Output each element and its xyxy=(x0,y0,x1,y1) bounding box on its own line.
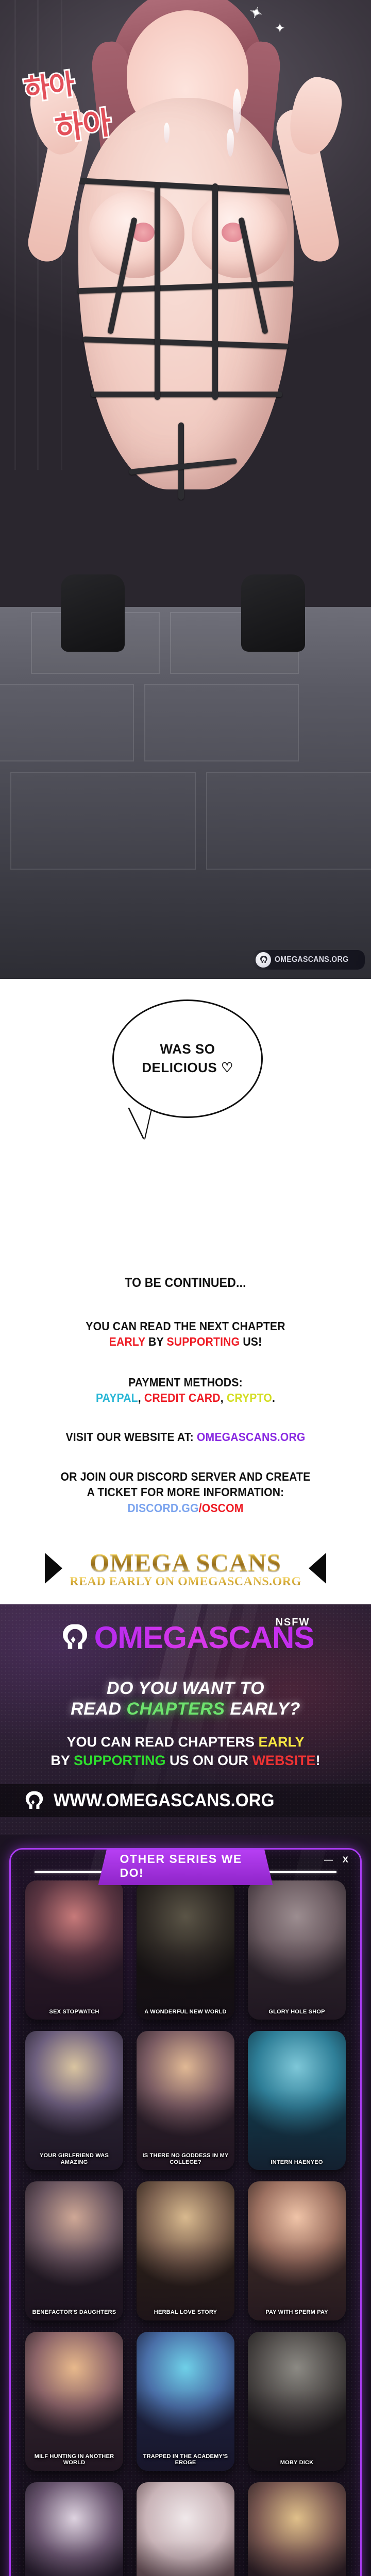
gold-logo-block: OMEGA SCANS READ EARLY ON OMEGASCANS.ORG xyxy=(0,1536,371,1604)
webtoon-page: ✦ ✦ 하아 하아 OMEGASCANS.ORG WAS SO DELICIOU… xyxy=(0,0,371,2576)
sub-early-word: EARLY xyxy=(259,1734,305,1750)
discord-line2: A TICKET FOR MORE INFORMATION: xyxy=(87,1485,284,1499)
sfx-text-2: 하아 xyxy=(52,98,113,149)
series-cover-overlay xyxy=(25,1880,123,2020)
hero-read-word: READ xyxy=(71,1699,121,1719)
hero-subtext: YOU CAN READ CHAPTERS EARLY BY SUPPORTIN… xyxy=(0,1733,371,1770)
series-title: GLORY HOLE SHOP xyxy=(248,2009,346,2015)
speech-bubble-tail xyxy=(129,1107,151,1139)
series-title: PAY WITH SPERM PAY xyxy=(248,2309,346,2315)
gold-logo-title: OMEGA SCANS xyxy=(70,1548,301,1577)
nsfw-tag-label: NSFW xyxy=(275,1617,310,1629)
series-title: MILF HUNTING IN ANOTHER WORLD xyxy=(25,2453,123,2466)
by-word: BY xyxy=(148,1335,163,1348)
discord-domain[interactable]: DISCORD.GG xyxy=(127,1501,198,1515)
series-thumbnail[interactable]: HERBAL LOVE STORY xyxy=(137,2181,234,2320)
series-cover-overlay xyxy=(248,2181,346,2320)
series-title: BENEFACTOR'S DAUGHTERS xyxy=(25,2309,123,2315)
series-thumbnail[interactable]: ISEKAI DRAGONDICK KNIGHT COMMANDER xyxy=(25,2482,123,2576)
payment-crypto: CRYPTO xyxy=(227,1391,272,1404)
discord-path[interactable]: /OSCOM xyxy=(199,1501,244,1515)
omega-logo-icon xyxy=(22,1789,44,1812)
sparkle-icon: ✦ xyxy=(247,3,265,24)
speech-bubble: WAS SO DELICIOUS ♡ xyxy=(112,999,263,1118)
series-title: INTERN HAENYEO xyxy=(248,2159,346,2165)
payment-paypal: PAYPAL xyxy=(96,1391,138,1404)
next-chapter-line1: YOU CAN READ THE NEXT CHAPTER xyxy=(86,1319,285,1333)
series-cover-overlay xyxy=(137,1880,234,2020)
series-title: MOBY DICK xyxy=(248,2460,346,2466)
series-section: OTHER SERIES WE DO! — X SEX STOPWATCHA W… xyxy=(0,1835,371,2576)
series-cover-overlay xyxy=(25,2332,123,2471)
series-cover-overlay xyxy=(137,2031,234,2170)
series-thumbnail[interactable]: A WONDERFUL NEW WORLD xyxy=(137,1880,234,2020)
payment-credit-card: CREDIT CARD xyxy=(144,1391,221,1404)
series-cover-overlay xyxy=(137,2482,234,2576)
series-thumbnail[interactable]: INTERN HAENYEO xyxy=(248,2031,346,2170)
series-card: OTHER SERIES WE DO! — X SEX STOPWATCHA W… xyxy=(9,1848,362,2576)
triangle-left-icon xyxy=(45,1553,62,1584)
character-boot-left xyxy=(61,574,125,652)
series-title: HERBAL LOVE STORY xyxy=(137,2309,234,2315)
speech-bubble-zone: WAS SO DELICIOUS ♡ xyxy=(0,979,371,1247)
sub-website-word: WEBSITE xyxy=(252,1753,316,1768)
series-thumbnail[interactable]: BENEFACTOR'S DAUGHTERS xyxy=(25,2181,123,2320)
watermark: OMEGASCANS.ORG xyxy=(252,950,365,970)
series-cover-overlay xyxy=(248,2031,346,2170)
series-cover-overlay xyxy=(137,2181,234,2320)
series-thumbnail[interactable]: YOUR GIRLFRIEND WAS AMAZING xyxy=(25,2031,123,2170)
visit-url-link[interactable]: OMEGASCANS.ORG xyxy=(197,1430,306,1444)
nsfw-promo-banner: OMEGASCANS NSFW DO YOU WANT TO READ CHAP… xyxy=(0,1604,371,1835)
series-thumbnail[interactable]: PAY WITH SPERM PAY xyxy=(248,2181,346,2320)
gold-logo-tagline: READ EARLY ON OMEGASCANS.ORG xyxy=(70,1575,301,1589)
speech-line-2: DELICIOUS ♡ xyxy=(142,1059,233,1077)
sub-supporting-word: SUPPORTING xyxy=(74,1753,166,1768)
series-thumbnail[interactable]: TRAPPED IN THE ACADEMY'S EROGE xyxy=(137,2332,234,2471)
series-cover-overlay xyxy=(25,2482,123,2576)
to-be-continued-label: TO BE CONTINUED... xyxy=(26,1276,345,1291)
visit-label: VISIT OUR WEBSITE AT: xyxy=(65,1430,193,1444)
window-controls[interactable]: — X xyxy=(324,1855,352,1865)
series-title: SEX STOPWATCH xyxy=(25,2009,123,2015)
supporting-word: SUPPORTING xyxy=(167,1335,240,1348)
series-cover-overlay xyxy=(248,1880,346,2020)
us-word: US! xyxy=(243,1335,262,1348)
sub-line1-a: YOU CAN READ CHAPTERS xyxy=(66,1734,255,1750)
series-cover-overlay xyxy=(248,2482,346,2576)
hero-headline: DO YOU WANT TO READ CHAPTERS EARLY? xyxy=(0,1678,371,1719)
series-grid: SEX STOPWATCHA WONDERFUL NEW WORLDGLORY … xyxy=(19,1877,352,2576)
sparkle-icon: ✦ xyxy=(275,22,284,35)
promo-text-block: TO BE CONTINUED... YOU CAN READ THE NEXT… xyxy=(0,1247,371,1536)
series-thumbnail[interactable]: GOLDEN FACADE xyxy=(248,2482,346,2576)
series-cover-overlay xyxy=(248,2332,346,2471)
character-torso xyxy=(78,98,294,489)
watermark-text: OMEGASCANS.ORG xyxy=(275,955,348,964)
floor-background xyxy=(0,607,371,979)
series-cover-overlay xyxy=(25,2031,123,2170)
website-url-bar[interactable]: WWW.OMEGASCANS.ORG xyxy=(0,1784,371,1817)
next-chapter-message: YOU CAN READ THE NEXT CHAPTER EARLY BY S… xyxy=(26,1318,345,1350)
hero-line-1: DO YOU WANT TO xyxy=(0,1678,371,1699)
visit-website-block: VISIT OUR WEBSITE AT: OMEGASCANS.ORG xyxy=(26,1429,345,1445)
character-boot-right xyxy=(241,574,305,652)
speech-line-1: WAS SO xyxy=(142,1040,233,1059)
early-word: EARLY xyxy=(109,1335,145,1348)
sfx-text-1: 하아 xyxy=(22,61,76,107)
series-title: IS THERE NO GODDESS IN MY COLLEGE? xyxy=(137,2153,234,2165)
series-thumbnail[interactable]: MY ILLUSTRATOR xyxy=(137,2482,234,2576)
payment-label: PAYMENT METHODS: xyxy=(128,1376,243,1389)
omega-badge-icon xyxy=(256,952,271,968)
series-cover-overlay xyxy=(25,2181,123,2320)
hero-chapters-word: CHAPTERS xyxy=(126,1699,225,1719)
website-url-text[interactable]: WWW.OMEGASCANS.ORG xyxy=(54,1790,275,1811)
discord-block: OR JOIN OUR DISCORD SERVER AND CREATE A … xyxy=(26,1469,345,1516)
series-title: YOUR GIRLFRIEND WAS AMAZING xyxy=(25,2153,123,2165)
triangle-right-icon xyxy=(309,1553,326,1584)
omega-logo-icon xyxy=(57,1621,89,1653)
sub-exclaim: ! xyxy=(316,1753,321,1768)
series-thumbnail[interactable]: SEX STOPWATCH xyxy=(25,1880,123,2020)
series-panel-title: OTHER SERIES WE DO! xyxy=(98,1848,273,1885)
payment-methods-block: PAYMENT METHODS: PAYPAL, CREDIT CARD, CR… xyxy=(26,1375,345,1406)
series-thumbnail[interactable]: MILF HUNTING IN ANOTHER WORLD xyxy=(25,2332,123,2471)
series-title: A WONDERFUL NEW WORLD xyxy=(137,2009,234,2015)
series-thumbnail[interactable]: GLORY HOLE SHOP xyxy=(248,1880,346,2020)
hero-early-word: EARLY? xyxy=(230,1699,300,1719)
series-thumbnail[interactable]: MOBY DICK xyxy=(248,2332,346,2471)
sub-by-word: BY xyxy=(50,1753,70,1768)
series-thumbnail[interactable]: IS THERE NO GODDESS IN MY COLLEGE? xyxy=(137,2031,234,2170)
sub-us-on-our: US ON OUR xyxy=(170,1753,248,1768)
comic-panel: ✦ ✦ 하아 하아 OMEGASCANS.ORG xyxy=(0,0,371,979)
series-title: TRAPPED IN THE ACADEMY'S EROGE xyxy=(137,2453,234,2466)
series-cover-overlay xyxy=(137,2332,234,2471)
discord-line1: OR JOIN OUR DISCORD SERVER AND CREATE xyxy=(61,1470,311,1483)
